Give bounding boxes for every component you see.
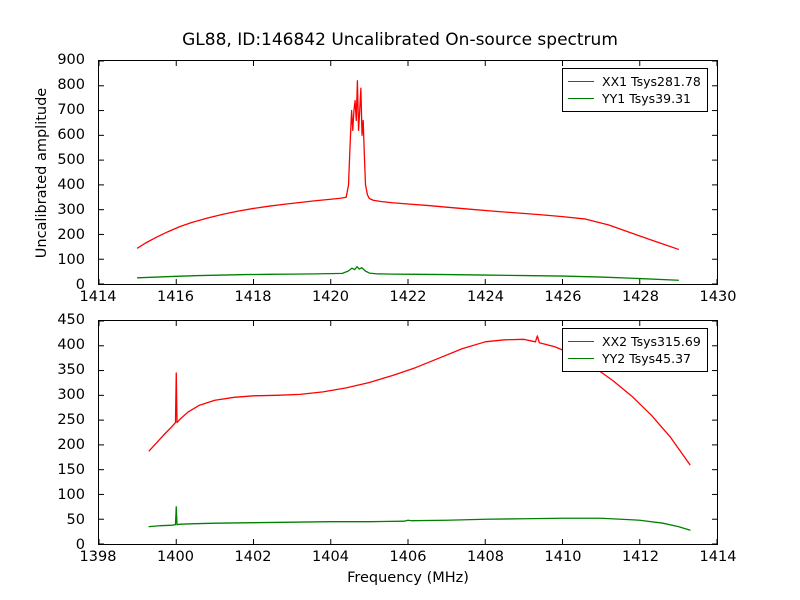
y-tick-label: 200	[57, 227, 92, 243]
legend-item: XX2 Tsys315.69	[568, 333, 701, 350]
x-tick-label: 1412	[622, 549, 659, 565]
y-tick-label: 800	[57, 77, 92, 93]
y-tick-label: 900	[57, 52, 92, 68]
y-tick-label: 700	[57, 102, 92, 118]
y-tick-label: 250	[57, 412, 92, 428]
legend-line-swatch-yy1	[568, 98, 594, 99]
y-tick-label: 50	[67, 512, 92, 528]
legend-item: XX1 Tsys281.78	[568, 73, 701, 90]
x-tick-label: 1400	[157, 549, 194, 565]
legend-line-swatch-yy2	[568, 358, 594, 359]
bottom-y-axis-ticks: 050100150200250300350400450	[0, 320, 92, 545]
x-tick-label: 1416	[157, 289, 194, 305]
top-x-axis-ticks: 141414161418142014221424142614281430	[0, 289, 800, 309]
x-tick-label: 1408	[467, 549, 504, 565]
x-tick-label: 1428	[622, 289, 659, 305]
page-title: GL88, ID:146842 Uncalibrated On-source s…	[0, 30, 800, 50]
data-series-line	[138, 267, 679, 281]
x-tick-label: 1398	[80, 549, 117, 565]
x-tick-label: 1404	[312, 549, 349, 565]
y-tick-label: 150	[57, 462, 92, 478]
x-tick-label: 1402	[235, 549, 272, 565]
bottom-legend: XX2 Tsys315.69 YY2 Tsys45.37	[562, 328, 708, 372]
y-tick-label: 350	[57, 362, 92, 378]
y-tick-label: 100	[57, 487, 92, 503]
x-tick-label: 1418	[235, 289, 272, 305]
legend-label-yy1: YY1 Tsys39.31	[602, 91, 691, 106]
x-tick-label: 1420	[312, 289, 349, 305]
legend-label-xx2: XX2 Tsys315.69	[602, 334, 701, 349]
bottom-x-axis-ticks: 139814001402140414061408141014121414	[0, 549, 800, 569]
legend-line-swatch-xx2	[568, 341, 594, 342]
legend-item: YY1 Tsys39.31	[568, 90, 701, 107]
y-tick-label: 100	[57, 252, 92, 268]
x-axis-label: Frequency (MHz)	[98, 570, 718, 586]
x-tick-label: 1414	[80, 289, 117, 305]
x-tick-label: 1414	[700, 549, 737, 565]
y-tick-label: 300	[57, 202, 92, 218]
x-tick-label: 1424	[467, 289, 504, 305]
x-tick-label: 1410	[545, 549, 582, 565]
y-tick-label: 600	[57, 127, 92, 143]
x-tick-label: 1426	[545, 289, 582, 305]
y-tick-label: 300	[57, 387, 92, 403]
x-tick-label: 1422	[390, 289, 427, 305]
spectrum-figure: GL88, ID:146842 Uncalibrated On-source s…	[0, 0, 800, 600]
legend-label-xx1: XX1 Tsys281.78	[602, 74, 701, 89]
legend-item: YY2 Tsys45.37	[568, 350, 701, 367]
y-tick-label: 450	[57, 312, 92, 328]
legend-line-swatch-xx1	[568, 81, 594, 82]
y-tick-label: 200	[57, 437, 92, 453]
data-series-line	[149, 507, 690, 530]
legend-label-yy2: YY2 Tsys45.37	[602, 351, 691, 366]
y-tick-label: 400	[57, 177, 92, 193]
top-legend: XX1 Tsys281.78 YY1 Tsys39.31	[562, 68, 708, 112]
y-tick-label: 400	[57, 337, 92, 353]
x-tick-label: 1406	[390, 549, 427, 565]
y-tick-label: 500	[57, 152, 92, 168]
x-tick-label: 1430	[700, 289, 737, 305]
y-axis-label: Uncalibrated amplitude	[34, 63, 50, 283]
